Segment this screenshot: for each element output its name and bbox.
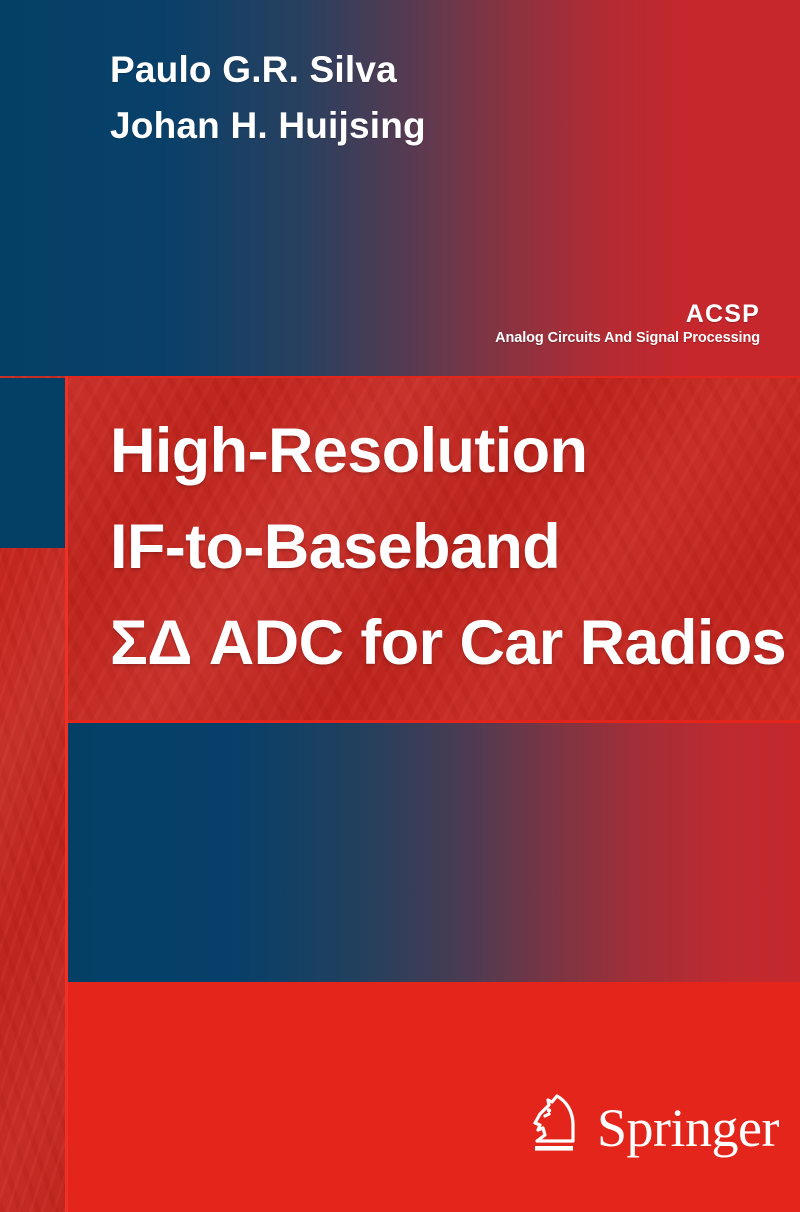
title-line-1: High-Resolution: [110, 404, 790, 500]
book-title: High-Resolution IF-to-Baseband ΣΔ ADC fo…: [110, 404, 790, 691]
author-block: Paulo G.R. Silva Johan H. Huijsing: [110, 42, 426, 154]
series-acronym: ACSP: [495, 300, 760, 328]
publisher-logo: Springer: [527, 1092, 779, 1154]
series-badge: ACSP Analog Circuits And Signal Processi…: [495, 300, 760, 347]
title-line-3: ΣΔ ADC for Car Radios: [110, 596, 790, 692]
springer-knight-icon: [527, 1092, 583, 1154]
author-name-secondary: Johan H. Huijsing: [110, 98, 426, 154]
lower-gradient-band: [68, 723, 800, 982]
book-cover: Paulo G.R. Silva Johan H. Huijsing ACSP …: [0, 0, 800, 1212]
title-line-2: IF-to-Baseband: [110, 500, 790, 596]
publisher-wordmark: Springer: [597, 1104, 779, 1154]
author-name-primary: Paulo G.R. Silva: [110, 42, 426, 98]
navy-accent-square: [0, 378, 65, 548]
series-name: Analog Circuits And Signal Processing: [495, 329, 760, 347]
